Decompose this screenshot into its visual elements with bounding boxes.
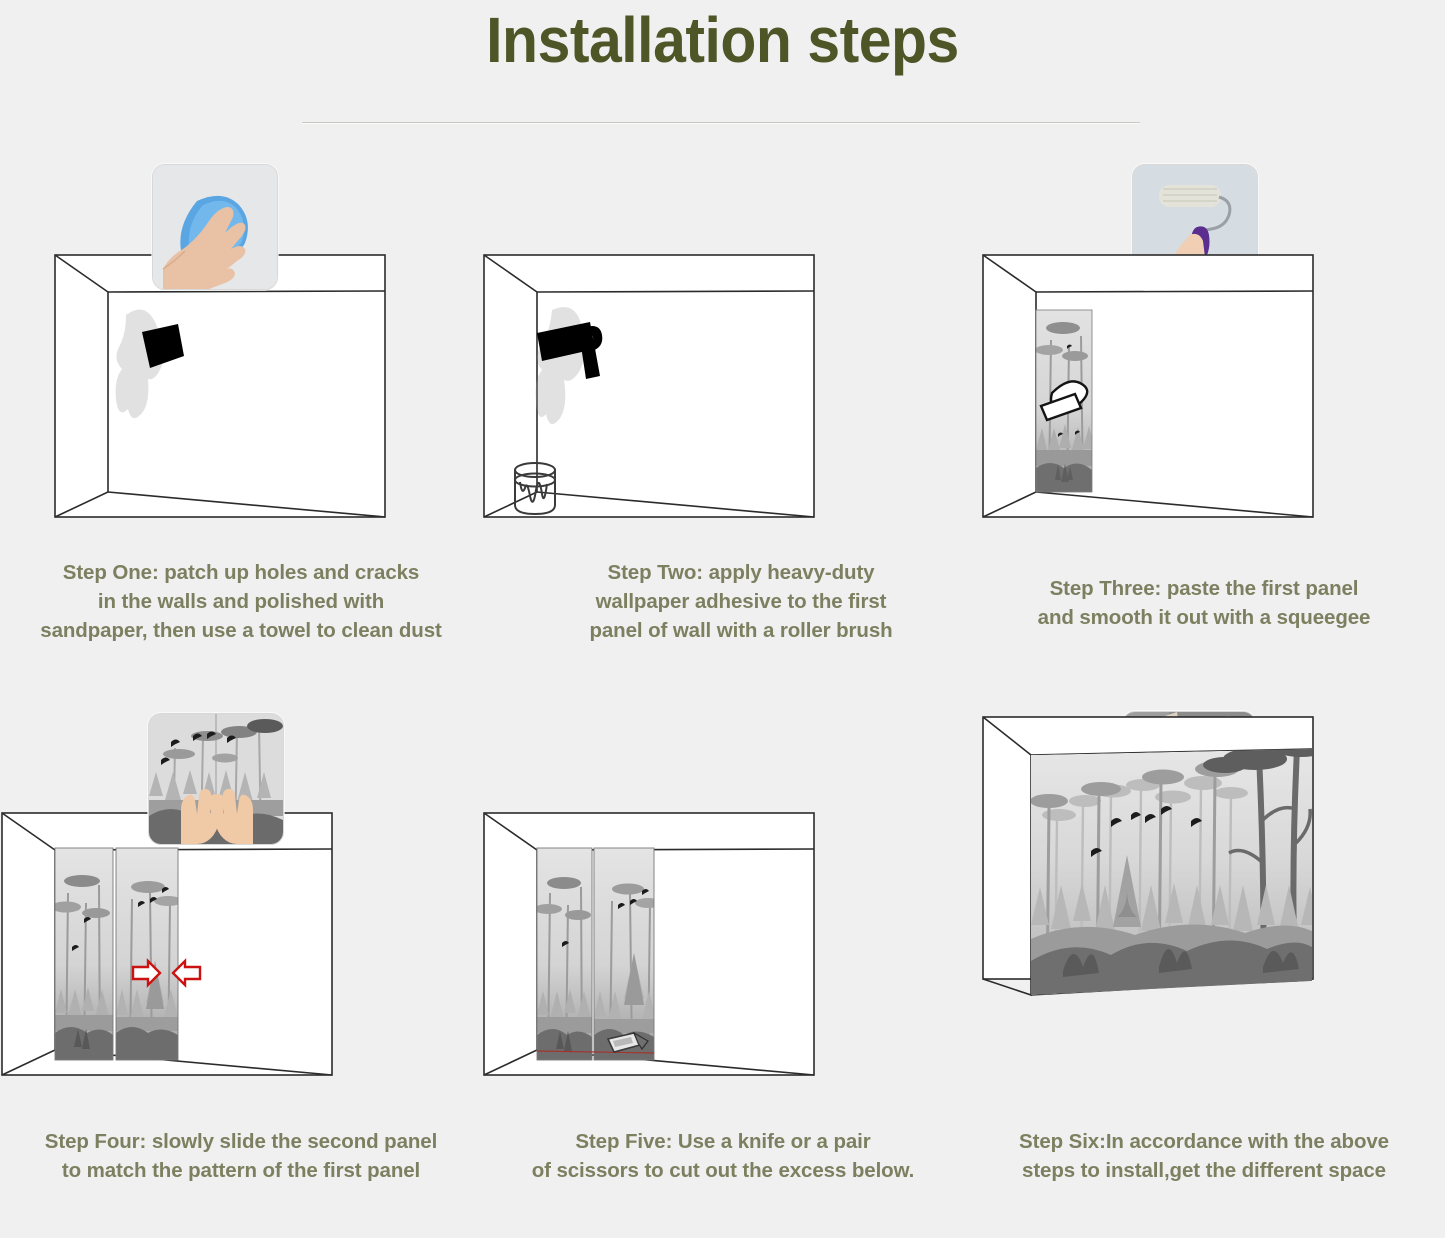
room-outline (55, 255, 385, 517)
step-card-four: Step Four: slowly slide the second panel… (0, 703, 482, 1238)
step-card-one: Step One: patch up holes and cracks in t… (0, 150, 482, 685)
step-six-illustration (963, 703, 1445, 1113)
wallpaper-panel-1 (534, 848, 592, 1060)
step-four-caption: Step Four: slowly slide the second panel… (0, 1127, 482, 1185)
step-five-caption: Step Five: Use a knife or a pair of scis… (482, 1127, 964, 1185)
steps-row-2: Step Four: slowly slide the second panel… (0, 703, 1445, 1238)
steps-grid: Step One: patch up holes and cracks in t… (0, 150, 1445, 1238)
wallpaper-panel-2 (116, 848, 182, 1060)
step-one-caption: Step One: patch up holes and cracks in t… (0, 558, 482, 645)
title-divider (302, 122, 1140, 124)
step-two-illustration (482, 150, 964, 560)
step-card-five: Step Five: Use a knife or a pair of scis… (482, 703, 964, 1238)
page-title: Installation steps (58, 4, 1387, 78)
installation-steps-infographic: Installation steps (0, 0, 1445, 1217)
step-six-caption: Step Six:In accordance with the above st… (963, 1127, 1445, 1185)
room-outline (983, 255, 1313, 517)
step-card-six: Step Six:In accordance with the above st… (963, 703, 1445, 1238)
step-one-photo (152, 164, 278, 290)
steps-row-1: Step One: patch up holes and cracks in t… (0, 150, 1445, 685)
step-five-illustration (482, 703, 964, 1113)
step-three-caption: Step Three: paste the first panel and sm… (963, 574, 1445, 632)
wallpaper-panel-1 (51, 848, 113, 1060)
full-wall-mural (1030, 737, 1329, 995)
wallpaper-panel-2 (594, 848, 661, 1060)
step-card-two: Step Two: apply heavy-duty wallpaper adh… (482, 150, 964, 685)
step-card-three: Step Three: paste the first panel and sm… (963, 150, 1445, 685)
step-two-caption: Step Two: apply heavy-duty wallpaper adh… (500, 558, 982, 645)
step-four-photo (148, 713, 284, 845)
step-three-illustration (963, 150, 1445, 560)
